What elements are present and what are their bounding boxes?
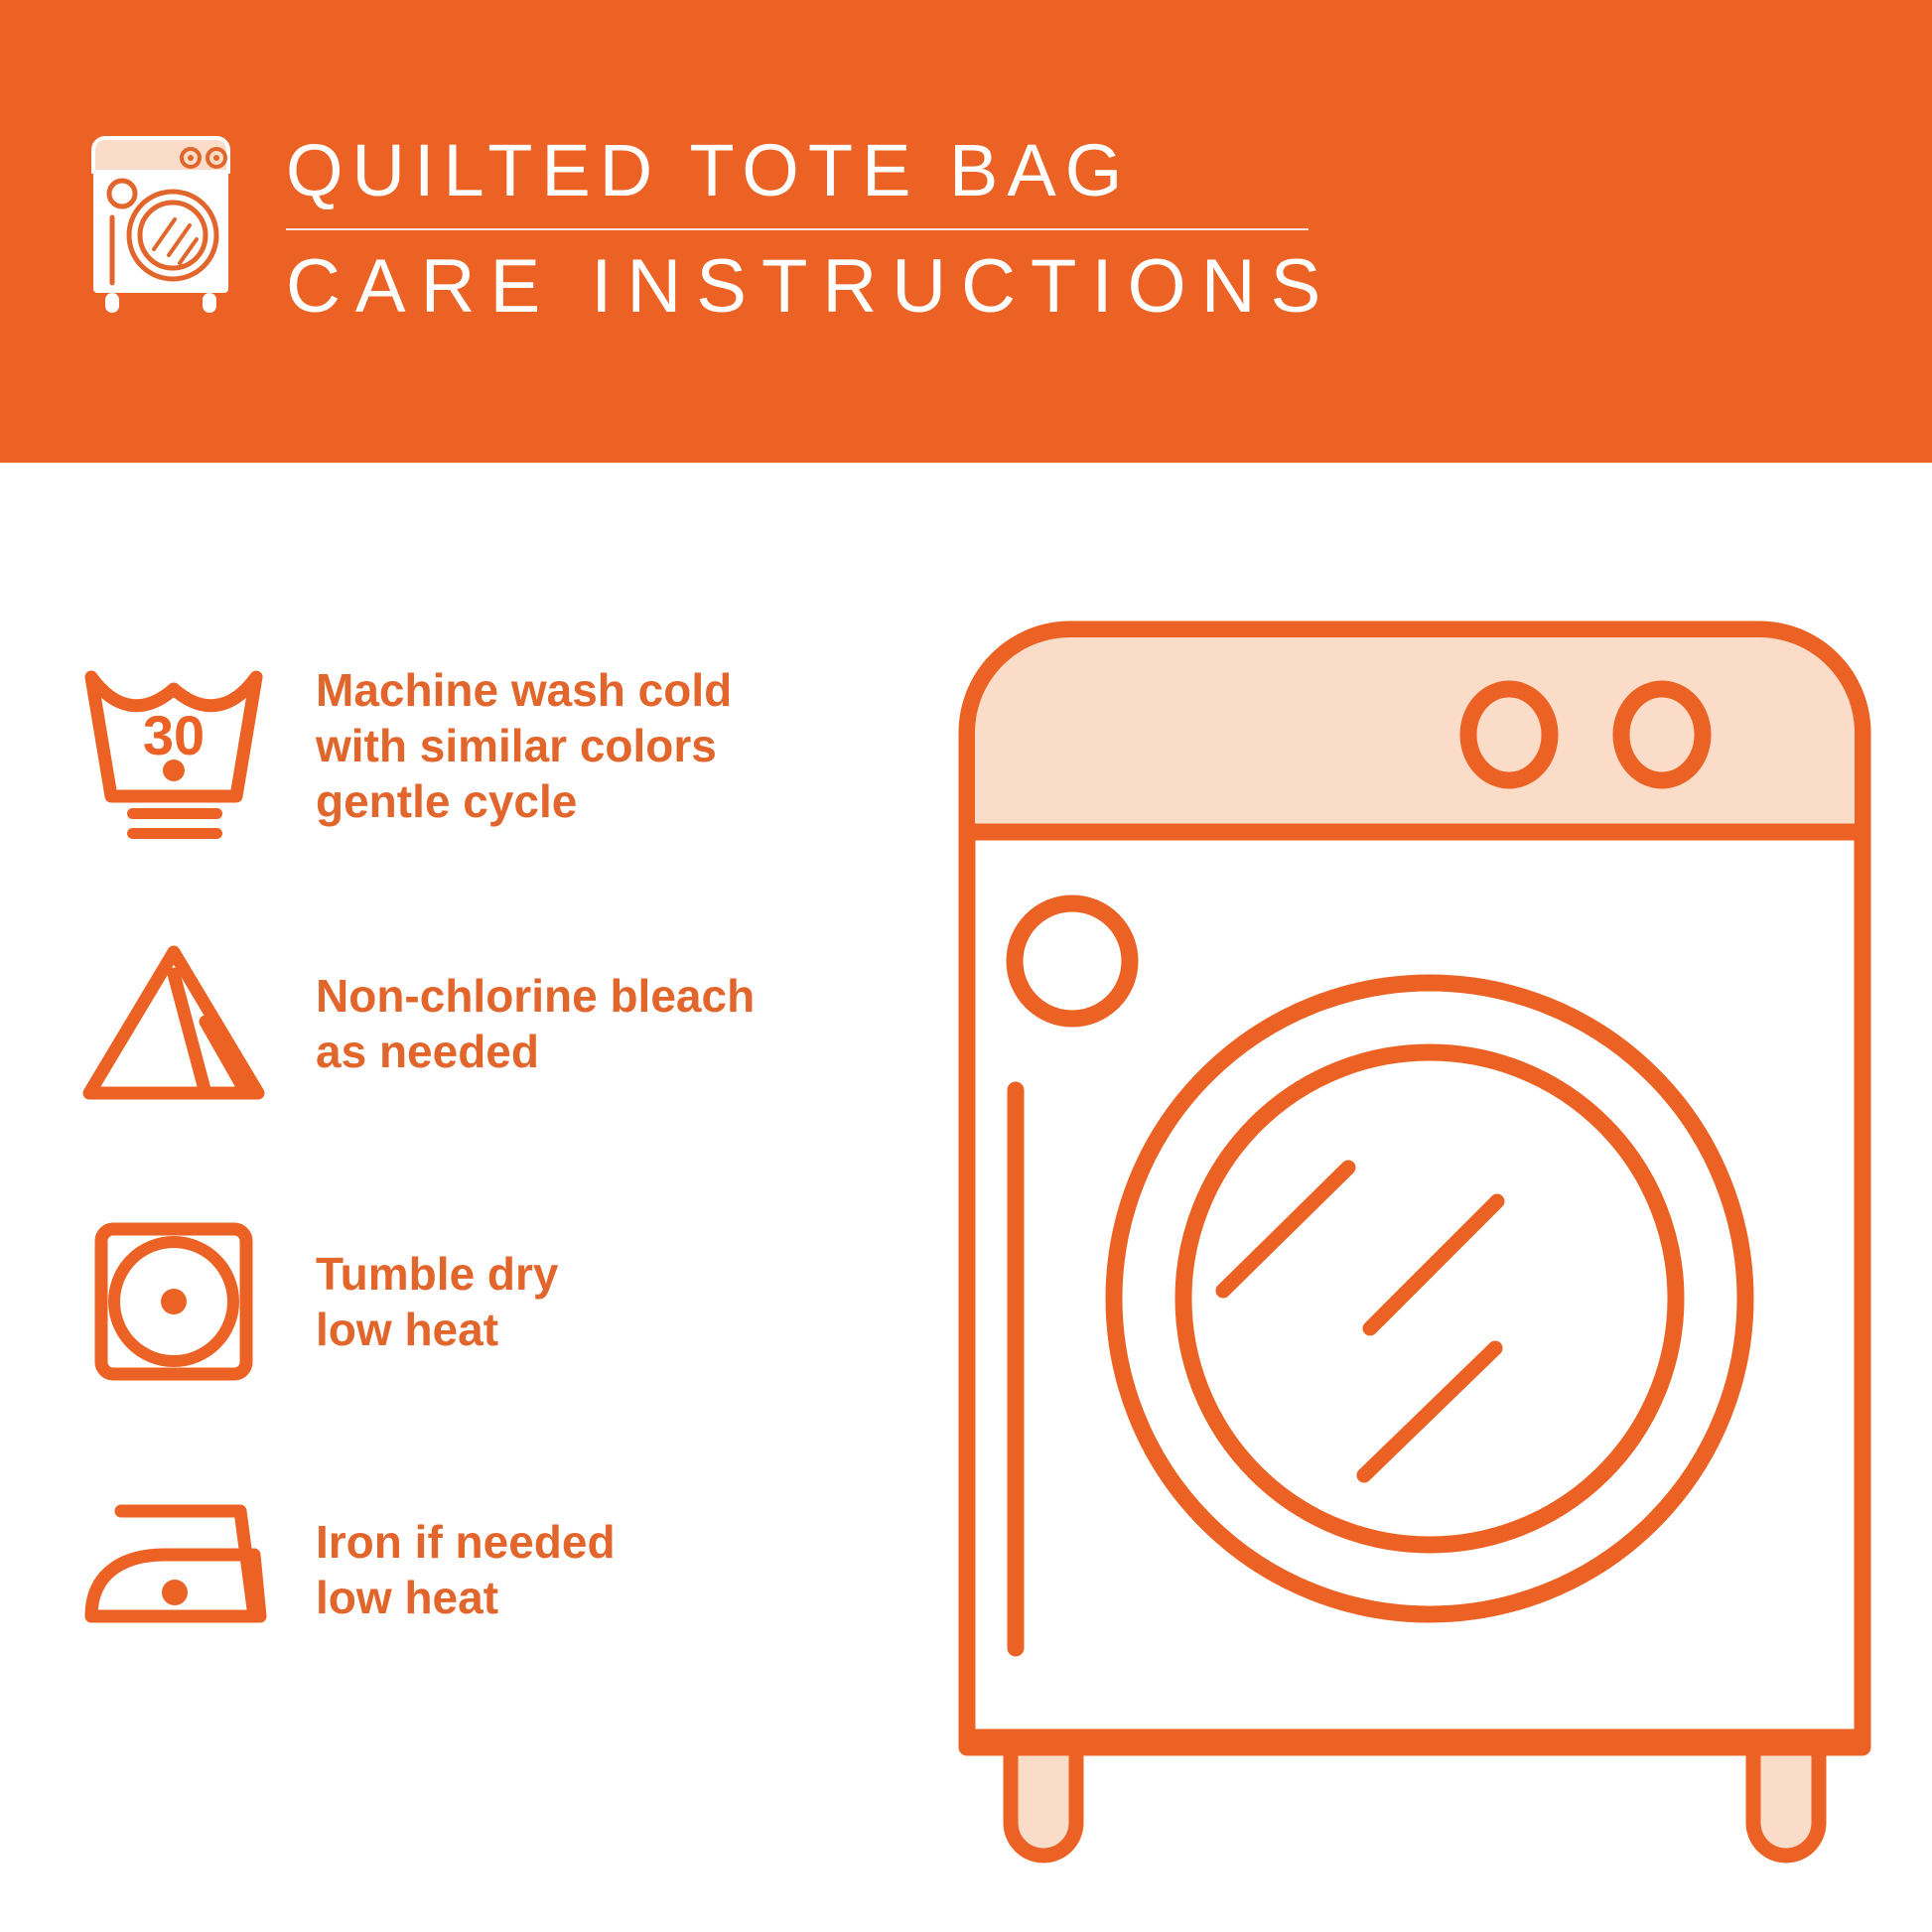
care-item-machine-wash: 30 Machine wash cold with similar colors… [60, 641, 732, 850]
care-item-tumble-dry: Tumble dry low heat [60, 1197, 559, 1406]
care-item-label: Tumble dry low heat [316, 1246, 559, 1357]
page-title: QUILTED TOTE BAG [286, 129, 1335, 212]
care-item-bleach: Non-chlorine bleach as needed [60, 919, 755, 1128]
care-instructions-page: QUILTED TOTE BAG CARE INSTRUCTIONS 30 [0, 0, 1932, 1932]
care-item-iron: Iron if needed low heat [60, 1465, 616, 1674]
washing-machine-icon [81, 132, 240, 316]
care-item-label: Iron if needed low heat [316, 1514, 616, 1625]
title-divider [286, 228, 1309, 230]
header-title-block: QUILTED TOTE BAG CARE INSTRUCTIONS [286, 129, 1335, 330]
header-banner: QUILTED TOTE BAG CARE INSTRUCTIONS [0, 0, 1932, 463]
iron-low-heat-icon [60, 1465, 288, 1674]
wash-basin-30-icon: 30 [60, 641, 288, 850]
care-item-label: Non-chlorine bleach as needed [316, 968, 755, 1079]
page-subtitle: CARE INSTRUCTIONS [286, 244, 1335, 330]
wash-temperature-label: 30 [143, 704, 205, 766]
washing-machine-illustration [953, 616, 1876, 1876]
non-chlorine-bleach-triangle-icon [60, 919, 288, 1128]
tumble-dry-low-icon [60, 1197, 288, 1406]
care-item-label: Machine wash cold with similar colors ge… [316, 662, 732, 829]
